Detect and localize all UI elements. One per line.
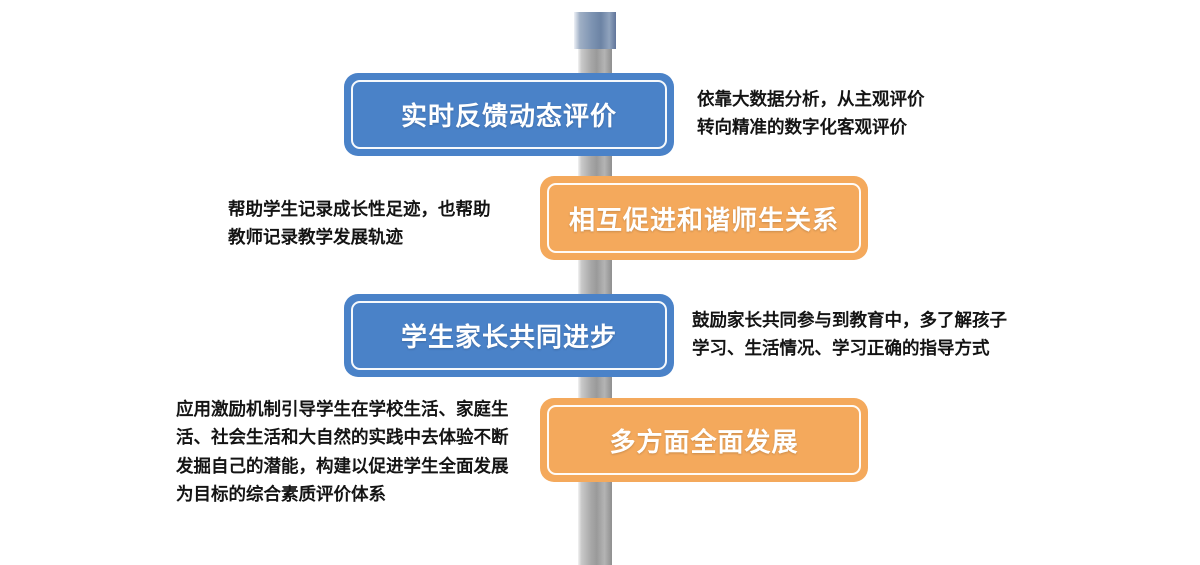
- signpost-description-4: 应用激励机制引导学生在学校生活、家庭生 活、社会生活和大自然的实践中去体验不断 …: [176, 396, 528, 509]
- signpost-pole-cap: [574, 12, 616, 49]
- signpost-box-label-4: 多方面全面发展: [609, 422, 798, 459]
- infographic-canvas: 实时反馈动态评价 依靠大数据分析，从主观评价 转向精准的数字化客观评价 相互促进…: [0, 0, 1200, 565]
- signpost-box-label-2: 相互促进和谐师生关系: [569, 200, 839, 237]
- signpost-box-label-3: 学生家长共同进步: [401, 317, 617, 354]
- signpost-description-1: 依靠大数据分析，从主观评价 转向精准的数字化客观评价: [697, 86, 1027, 143]
- signpost-description-3: 鼓励家长共同参与到教育中，多了解孩子 学习、生活情况、学习正确的指导方式: [692, 307, 1052, 364]
- signpost-box-2[interactable]: 相互促进和谐师生关系: [540, 176, 868, 260]
- signpost-description-2: 帮助学生记录成长性足迹，也帮助 教师记录教学发展轨迹: [228, 196, 528, 253]
- signpost-box-1[interactable]: 实时反馈动态评价: [344, 73, 674, 156]
- signpost-box-3[interactable]: 学生家长共同进步: [344, 294, 674, 377]
- signpost-box-label-1: 实时反馈动态评价: [401, 96, 617, 133]
- signpost-box-4[interactable]: 多方面全面发展: [540, 398, 868, 482]
